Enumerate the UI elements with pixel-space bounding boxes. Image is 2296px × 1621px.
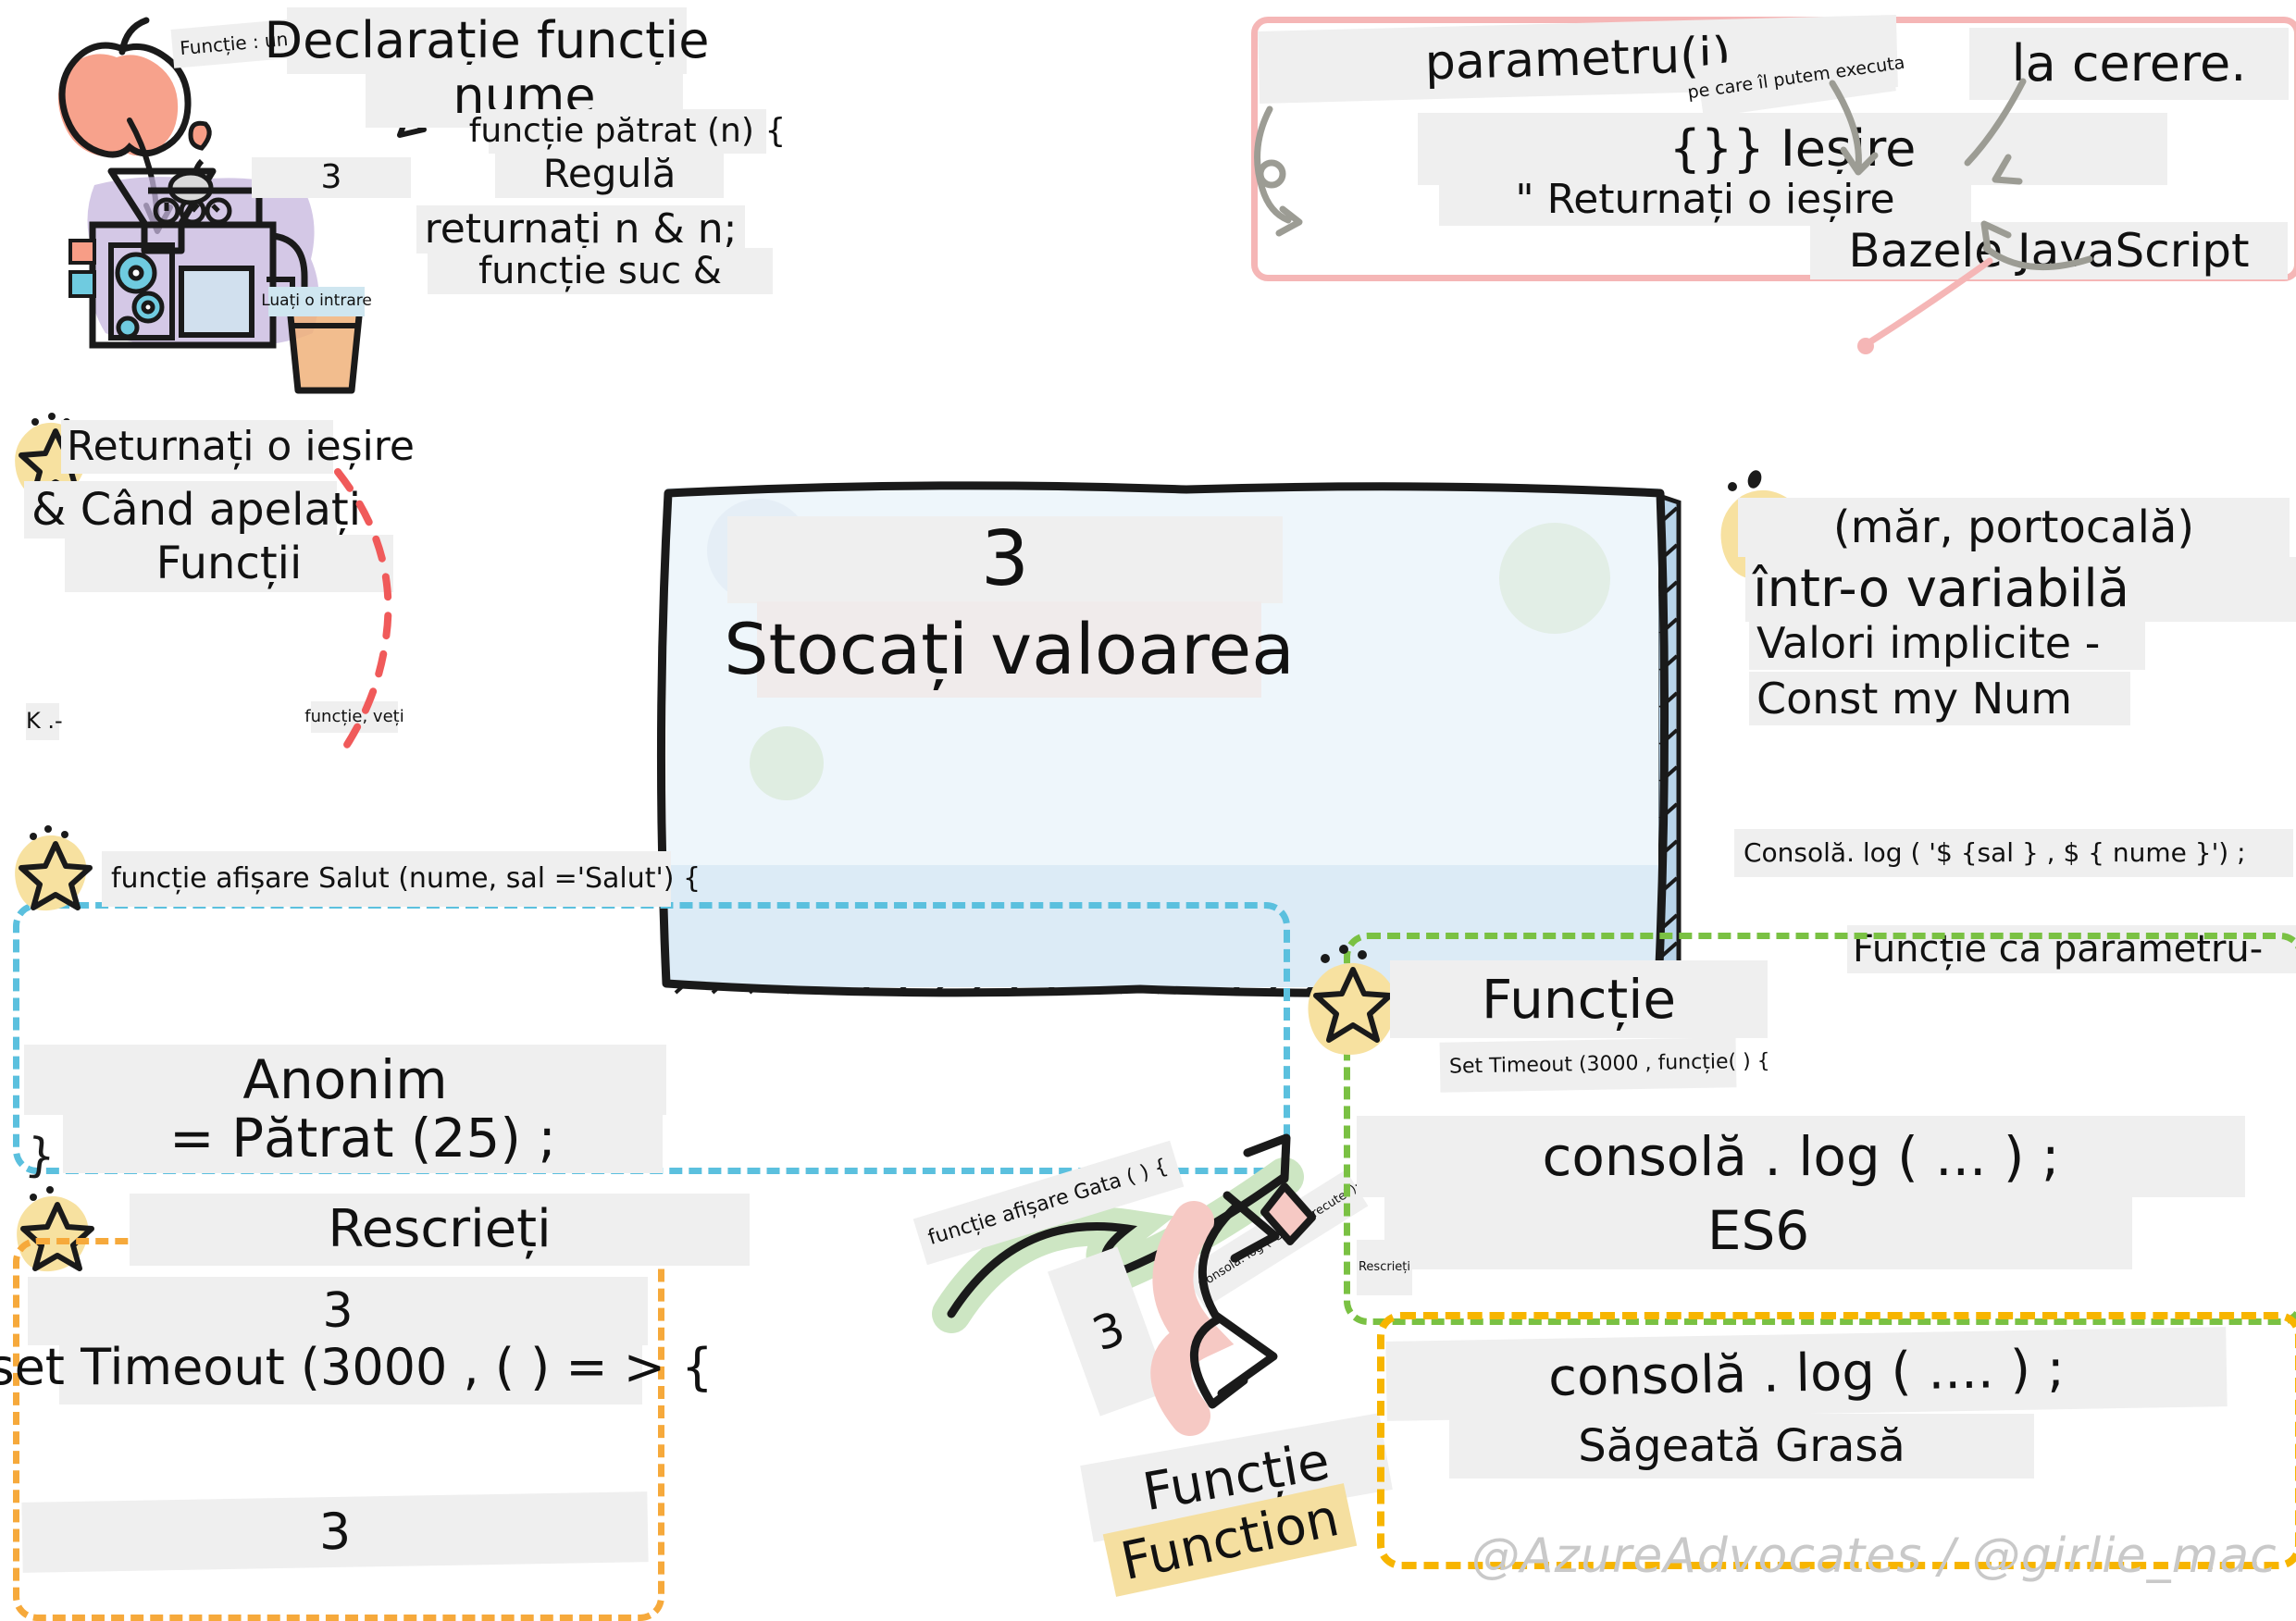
star-icon-rewrite (15, 1186, 104, 1279)
function-right-label: Funcție (1390, 960, 1768, 1038)
rewrite-label: Rescrieți (130, 1194, 750, 1266)
assign-square-label: = Pătrat (25) ; (63, 1103, 663, 1173)
number-3-bottom: 3 (21, 1491, 648, 1573)
closing-brace-left: } (23, 1127, 58, 1183)
const-my-num-label: Const my Num (1749, 672, 2130, 725)
greet-signature: funcție afișare Salut (nume, sal ='Salut… (102, 851, 671, 907)
machine-input-label: Luați o intrare (268, 287, 365, 316)
pink-connector (1805, 261, 2101, 372)
rule-label: Regulă (495, 150, 724, 198)
default-values-label: Valori implicite - (1749, 616, 2145, 670)
fat-arrow-label: Săgeată Grasă (1449, 1414, 2034, 1479)
function-signature: funcție pătrat (n) { (489, 109, 766, 154)
red-dashed-arc (329, 463, 449, 768)
center-number: 3 (727, 516, 1283, 603)
pink-curly-arrow (1138, 1184, 1379, 1443)
when-you-call: & Când apelați (24, 481, 337, 538)
suc-function-line: funcție suc & (428, 248, 773, 294)
function-as-parameter-label: Funcție ca parametru- (1847, 925, 2296, 973)
rewrite-small-label: Rescrieți (1357, 1240, 1412, 1295)
console-log-dots4: consolă . log ( .... ) ; (1385, 1327, 2227, 1421)
k-mark: K .- (26, 703, 59, 740)
return-n-line: returnați n & n; (416, 205, 745, 254)
apple-orange-label: (măr, portocală) (1738, 498, 2290, 557)
center-caption: Stocați valoarea (757, 601, 1261, 698)
set-timeout-callback: Set Timeout (3000 , funcție( ) { (1440, 1037, 1737, 1093)
return-output-left: Returnați o ieșire (61, 420, 333, 474)
console-log-template: Consolă. log ( '$ {sal } , $ { nume }') … (1734, 829, 2293, 877)
console-log-dots: consolă . log ( ... ) ; (1357, 1116, 2245, 1197)
number-3-top: 3 (252, 157, 411, 198)
arrows-pink-frame (1296, 28, 2277, 296)
in-variable-label: într-o variabilă (1745, 557, 2296, 622)
es6-label: ES6 (1384, 1192, 2132, 1269)
set-timeout-arrow-line: set Timeout (3000 , ( ) = > { (59, 1330, 642, 1404)
watermark: @AzureAdvocates / @girlie_mac (1471, 1528, 2277, 1584)
star-icon-greet (13, 825, 102, 918)
